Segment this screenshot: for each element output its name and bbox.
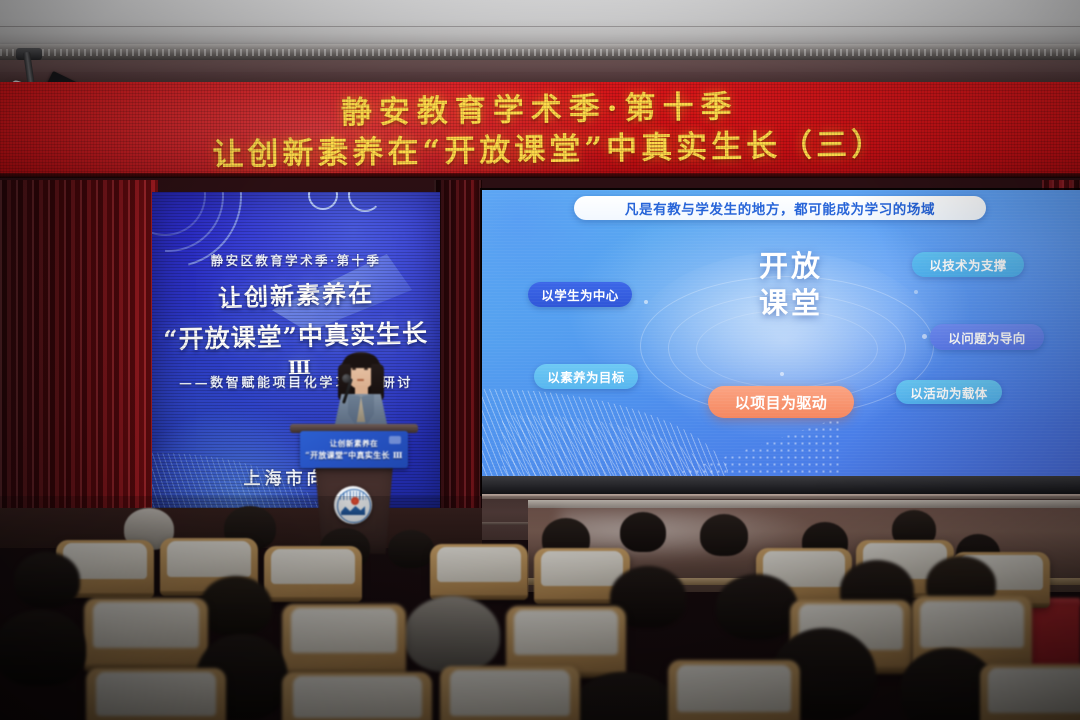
- speaker-mouth: [357, 379, 364, 381]
- slide-node-dot: [922, 334, 927, 339]
- slide-title-line-2: 课堂: [759, 286, 823, 320]
- banner-line-1: 静安教育学术季·第十季: [341, 89, 739, 132]
- auditorium-seat: [84, 598, 208, 672]
- slide-tag-literacy-goal: 以素养为目标: [534, 364, 638, 389]
- speaker-eye: [364, 368, 368, 370]
- auditorium-seat: [980, 664, 1080, 720]
- slide-header-text: 凡是有教与学发生的地方，都可能成为学习的场域: [625, 198, 935, 218]
- slide-tag-activity-carrier: 以活动为载体: [896, 380, 1002, 404]
- stage-curtain-left: [0, 180, 158, 530]
- slide-title: 开放 课堂: [718, 248, 864, 322]
- truss-detail: [0, 49, 1080, 56]
- slide-node-dot: [914, 290, 918, 294]
- backdrop-kicker: 静安区教育学术季·第十季: [152, 250, 440, 269]
- audience-head: [0, 610, 86, 686]
- school-crest-icon: [334, 486, 372, 524]
- speaker-eye: [352, 368, 356, 370]
- audience-head: [620, 512, 666, 552]
- ceiling-seam: [0, 26, 1080, 27]
- led-banner: 静安教育学术季·第十季 让创新素养在“开放课堂”中真实生长（三）: [0, 82, 1080, 178]
- backdrop-subtitle: ——数智赋能项目化学习实践研讨: [152, 372, 440, 391]
- auditorium-seat: [86, 668, 226, 720]
- audience-head: [566, 672, 682, 720]
- slide-tag-problem-oriented: 以问题为导向: [930, 324, 1044, 350]
- slide-header-banner: 凡是有教与学发生的地方，都可能成为学习的场域: [574, 196, 986, 220]
- slide-tag-technology-support: 以技术为支撑: [912, 252, 1024, 277]
- slide-node-dot: [644, 300, 648, 304]
- stage-front-lip: [482, 494, 1080, 499]
- podium-sign-line-2: “开放课堂”中真实生长 Ⅲ: [300, 450, 408, 461]
- audience-head: [716, 574, 798, 640]
- podium-sign: 让创新素养在 “开放课堂”中真实生长 Ⅲ: [300, 431, 408, 468]
- auditorium-seat: [430, 544, 528, 600]
- backdrop-title: 让创新素养在 “开放课堂”中真实生长Ⅲ: [152, 276, 440, 382]
- auditorium-seat: [264, 546, 362, 602]
- auditorium-seat: [440, 666, 580, 720]
- slide-tag-student-centered: 以学生为中心: [528, 282, 632, 307]
- slide-title-line-1: 开放: [759, 249, 823, 283]
- slide-tag-project-driven: 以项目为驱动: [708, 386, 854, 418]
- banner-line-2: 让创新素养在“开放课堂”中真实生长（三）: [194, 126, 886, 173]
- microphone-icon: [342, 374, 351, 383]
- podium-sign-line-1: 让创新素养在: [300, 438, 408, 449]
- speaker-person: [330, 352, 392, 434]
- auditorium-seat: [282, 672, 432, 720]
- screen-bezel: [482, 476, 1080, 494]
- auditorium-seat: [282, 604, 406, 676]
- backdrop-ring-icon: [308, 192, 338, 210]
- audience-head: [14, 552, 80, 608]
- crest-sun-icon: [351, 497, 359, 505]
- audience-head: [404, 596, 500, 672]
- audience-head: [700, 514, 748, 556]
- backdrop-title-line-1: 让创新素养在: [152, 271, 440, 316]
- slide-node-dot: [780, 372, 784, 376]
- backdrop-title-line-2-text: “开放课堂”中真实生长: [163, 319, 428, 354]
- presentation-slide: 凡是有教与学发生的地方，都可能成为学习的场域 开放 课堂 以学生为中心 以素养为…: [482, 190, 1080, 476]
- stage-curtain-center: [434, 180, 482, 525]
- audience-head: [388, 530, 434, 568]
- backdrop-ring-icon: [348, 192, 382, 212]
- audience-head: [200, 576, 272, 636]
- projection-screen: 凡是有教与学发生的地方，都可能成为学习的场域 开放 课堂 以学生为中心 以素养为…: [482, 190, 1080, 494]
- conference-hall-photo: 静安教育学术季·第十季 让创新素养在“开放课堂”中真实生长（三） 静安区教育学术…: [0, 0, 1080, 720]
- auditorium-seat: [668, 660, 800, 720]
